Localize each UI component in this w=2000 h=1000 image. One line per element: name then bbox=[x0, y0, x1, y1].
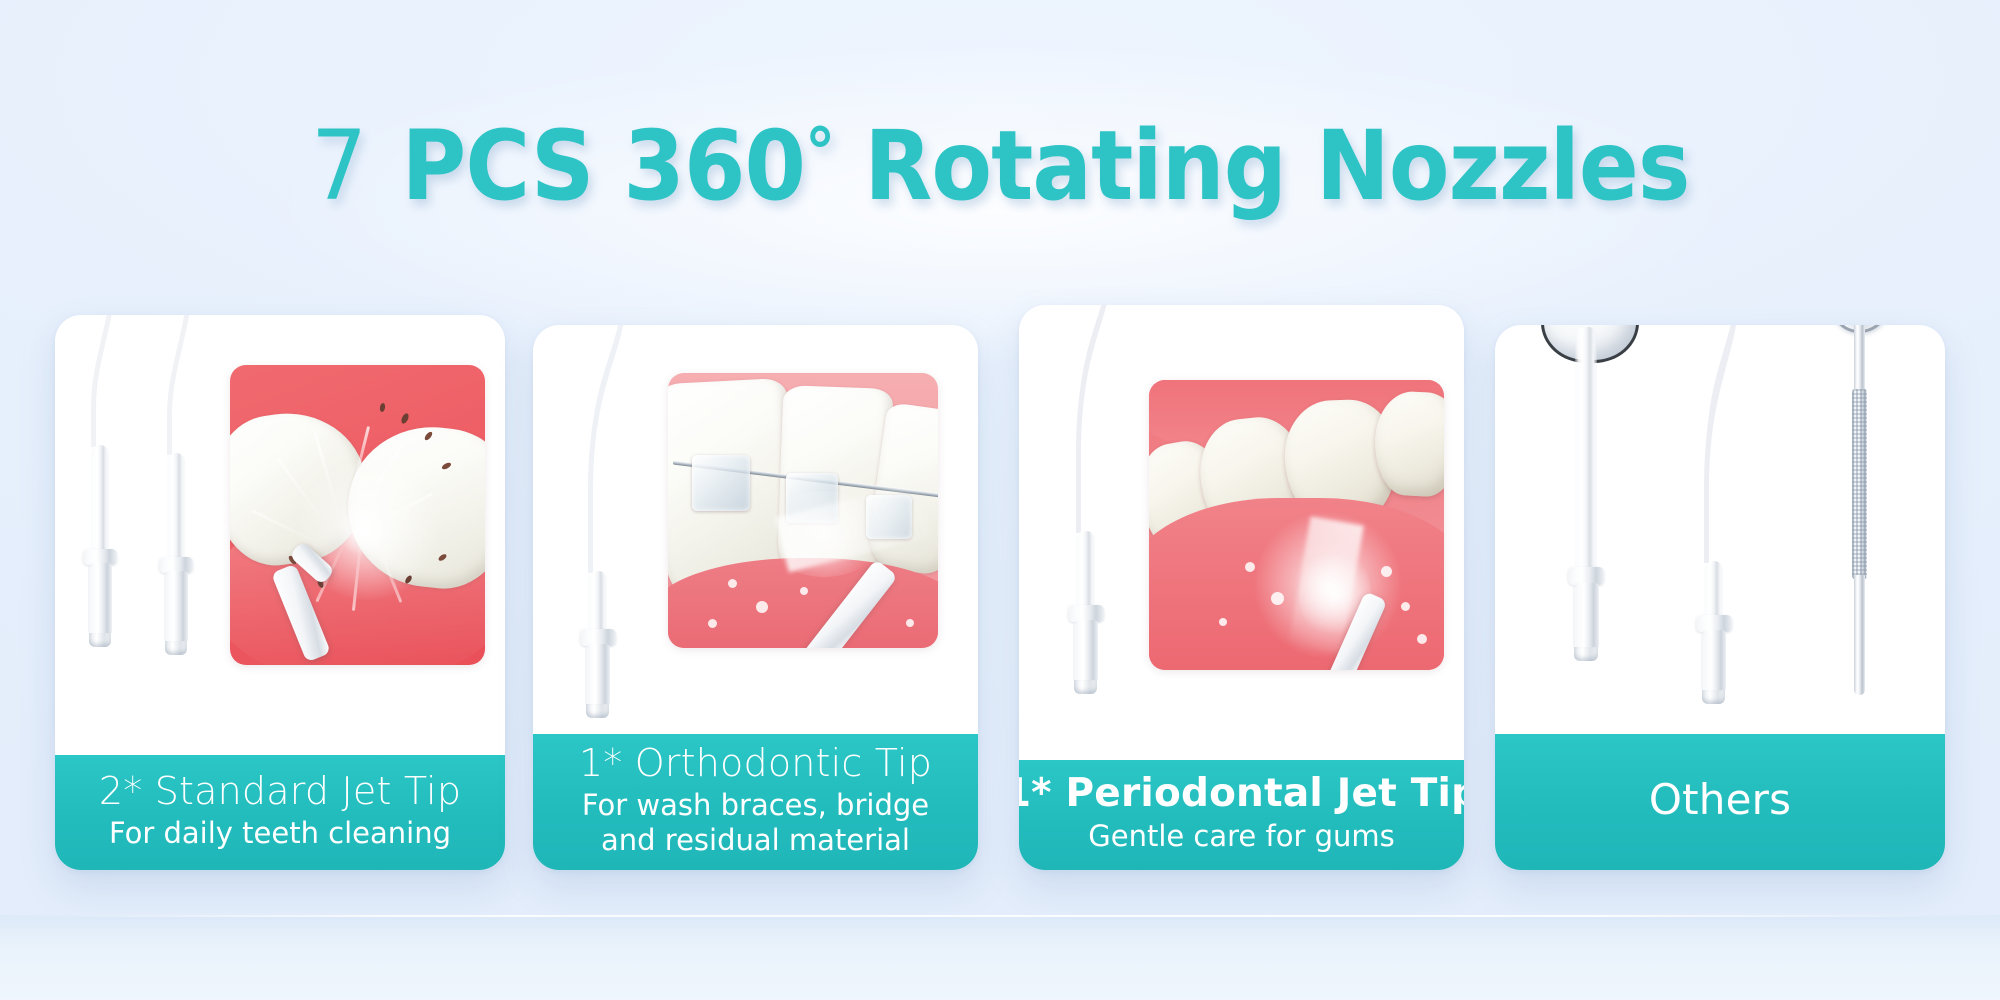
page-title-rest: PCS 360 bbox=[371, 110, 804, 222]
card-subtitle: Gentle care for gums bbox=[1088, 819, 1394, 854]
nozzle-foot-a bbox=[89, 633, 111, 647]
card-orthodontic-tip-inner: 1* Orthodontic Tip For wash braces, brid… bbox=[533, 325, 978, 870]
illustration-braces-brackets-spray bbox=[668, 373, 938, 648]
dental-mirror-handle bbox=[1854, 575, 1865, 695]
tool-foot bbox=[1574, 647, 1598, 661]
nozzle-shaft-b bbox=[167, 453, 185, 563]
nozzle-orthodontic bbox=[563, 325, 653, 747]
card-others-inner: Others bbox=[1495, 325, 1945, 870]
card-standard-jet-tip-inner: 2* Standard Jet Tip For daily teeth clea… bbox=[55, 315, 505, 870]
page-title-count: 7 bbox=[311, 110, 366, 222]
nozzle-standard-a bbox=[69, 315, 139, 679]
nozzle-base-a bbox=[88, 563, 112, 635]
nozzle-base-ortho bbox=[585, 644, 610, 706]
nozzle-shaft-ortho bbox=[588, 571, 607, 635]
water-droplet bbox=[1417, 634, 1427, 644]
water-droplet bbox=[756, 601, 768, 613]
water-droplet bbox=[708, 619, 717, 628]
card-title: 2* Standard Jet Tip bbox=[99, 770, 461, 813]
tool-shaft bbox=[1704, 561, 1723, 621]
tool-tongue-cleaner-tip bbox=[1535, 325, 1645, 717]
nozzle-curve-ortho bbox=[563, 325, 653, 577]
card-periodontal-jet-tip-inner: 1* Periodontal Jet Tip Gentle care for g… bbox=[1019, 305, 1464, 870]
tool-base bbox=[1573, 583, 1599, 649]
degree-symbol: ° bbox=[805, 114, 834, 191]
water-droplet bbox=[1401, 602, 1410, 611]
dental-mirror-stem bbox=[1854, 325, 1865, 393]
water-droplet bbox=[728, 579, 737, 588]
background-shelf bbox=[0, 915, 2000, 1000]
tool-dental-mirror bbox=[1815, 325, 1905, 727]
water-droplet bbox=[906, 619, 914, 627]
card-title: 1* Periodontal Jet Tip bbox=[1019, 772, 1464, 816]
water-droplet bbox=[1381, 566, 1392, 577]
tool-shaft bbox=[1575, 327, 1597, 577]
tool-foot bbox=[1702, 690, 1725, 704]
card-subtitle: For daily teeth cleaning bbox=[109, 816, 451, 851]
debris-speck bbox=[400, 412, 410, 425]
card-periodontal-jet-tip-caption: 1* Periodontal Jet Tip Gentle care for g… bbox=[1019, 760, 1464, 870]
nozzle-periodontal bbox=[1051, 305, 1141, 707]
page-title-tail: Rotating Nozzles bbox=[834, 110, 1689, 222]
card-orthodontic-tip-caption: 1* Orthodontic Tip For wash braces, brid… bbox=[533, 734, 978, 870]
nozzle-curve-spare bbox=[1680, 325, 1770, 567]
card-standard-jet-tip[interactable]: 2* Standard Jet Tip For daily teeth clea… bbox=[55, 315, 505, 870]
water-droplet bbox=[800, 587, 808, 595]
card-title: Others bbox=[1649, 776, 1791, 823]
nozzle-curve-b bbox=[145, 315, 215, 457]
water-droplet bbox=[1271, 592, 1284, 605]
debris-speck bbox=[379, 403, 385, 413]
nozzle-foot-ortho bbox=[586, 704, 609, 718]
nozzle-foot-b bbox=[165, 641, 187, 655]
card-standard-jet-tip-caption: 2* Standard Jet Tip For daily teeth clea… bbox=[55, 755, 505, 870]
illustration-molars-gumline-spray bbox=[1149, 380, 1444, 670]
page-title: 7 PCS 360° Rotating Nozzles bbox=[311, 118, 1690, 214]
nozzle-base-perio bbox=[1073, 620, 1098, 682]
nozzle-card-row: 2* Standard Jet Tip For daily teeth clea… bbox=[0, 290, 2000, 880]
water-spray-burst bbox=[764, 491, 884, 577]
nozzle-shaft-perio bbox=[1076, 531, 1095, 611]
nozzle-base-b bbox=[164, 571, 188, 643]
nozzle-shaft-a bbox=[91, 445, 109, 555]
nozzle-foot-perio bbox=[1074, 680, 1097, 694]
nozzle-standard-b bbox=[145, 315, 215, 687]
water-droplet bbox=[1245, 562, 1255, 572]
card-subtitle-line-1: For wash braces, bridge bbox=[582, 788, 929, 823]
page-title-area: 7 PCS 360° Rotating Nozzles bbox=[0, 118, 2000, 214]
card-orthodontic-tip[interactable]: 1* Orthodontic Tip For wash braces, brid… bbox=[533, 325, 978, 870]
card-others[interactable]: Others bbox=[1495, 325, 1945, 870]
dental-mirror-grip bbox=[1852, 389, 1867, 579]
water-droplet bbox=[1219, 618, 1227, 626]
card-title: 1* Orthodontic Tip bbox=[579, 742, 932, 785]
bracket-1 bbox=[692, 455, 750, 511]
nozzle-curve-perio bbox=[1051, 305, 1141, 537]
card-periodontal-jet-tip[interactable]: 1* Periodontal Jet Tip Gentle care for g… bbox=[1019, 305, 1464, 870]
nozzle-curve-a bbox=[69, 315, 139, 449]
tool-base bbox=[1701, 630, 1726, 692]
card-subtitle-line-2: and residual material bbox=[601, 823, 910, 858]
tool-nozzle-tip bbox=[1680, 325, 1770, 727]
illustration-teeth-interdental-spray bbox=[230, 365, 485, 665]
card-others-caption: Others bbox=[1495, 734, 1945, 870]
